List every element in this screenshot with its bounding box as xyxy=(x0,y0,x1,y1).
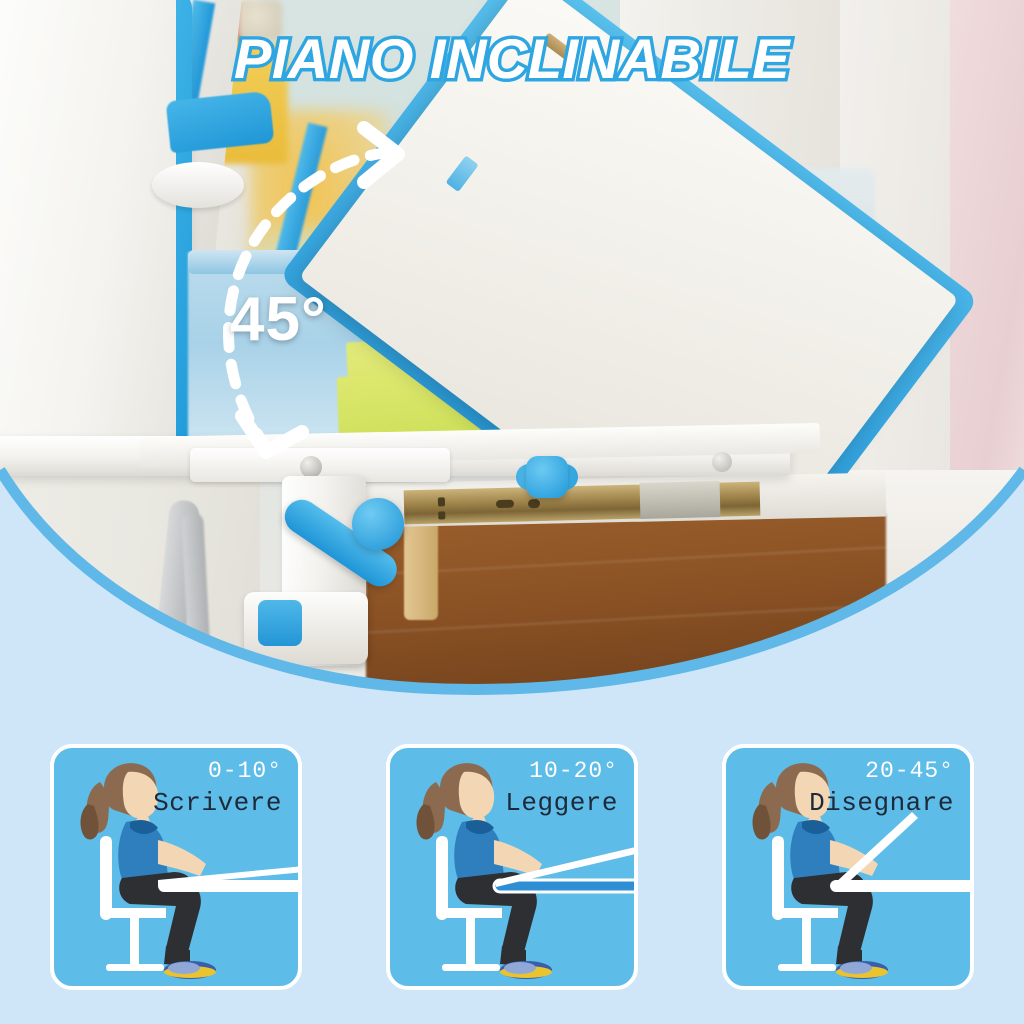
hero-photo-region: 45° PIANO INCLINABILE PIANO INCLINABILE xyxy=(0,0,1024,700)
desk-surface-illustration xyxy=(158,866,302,892)
tilt-usage-panels: 0-10° Scrivere xyxy=(0,744,1024,994)
panel-activity: Leggere xyxy=(505,788,618,818)
person-seated-drawing-icon xyxy=(726,748,974,990)
panel-activity: Disegnare xyxy=(809,788,954,818)
panel-degrees: 10-20° xyxy=(529,758,618,784)
panel-writing[interactable]: 0-10° Scrivere xyxy=(50,744,302,990)
person-seated-reading-icon xyxy=(390,748,638,990)
photo-curved-border xyxy=(0,0,1024,700)
page-title: PIANO INCLINABILE xyxy=(0,26,1024,91)
panel-drawing[interactable]: 20-45° Disegnare xyxy=(722,744,974,990)
panel-reading[interactable]: 10-20° Leggere xyxy=(386,744,638,990)
product-feature-graphic: 45° PIANO INCLINABILE PIANO INCLINABILE xyxy=(0,0,1024,1024)
person-seated-writing-icon xyxy=(54,748,302,990)
panel-degrees: 0-10° xyxy=(208,758,282,784)
panel-activity: Scrivere xyxy=(153,788,282,818)
panel-degrees: 20-45° xyxy=(865,758,954,784)
